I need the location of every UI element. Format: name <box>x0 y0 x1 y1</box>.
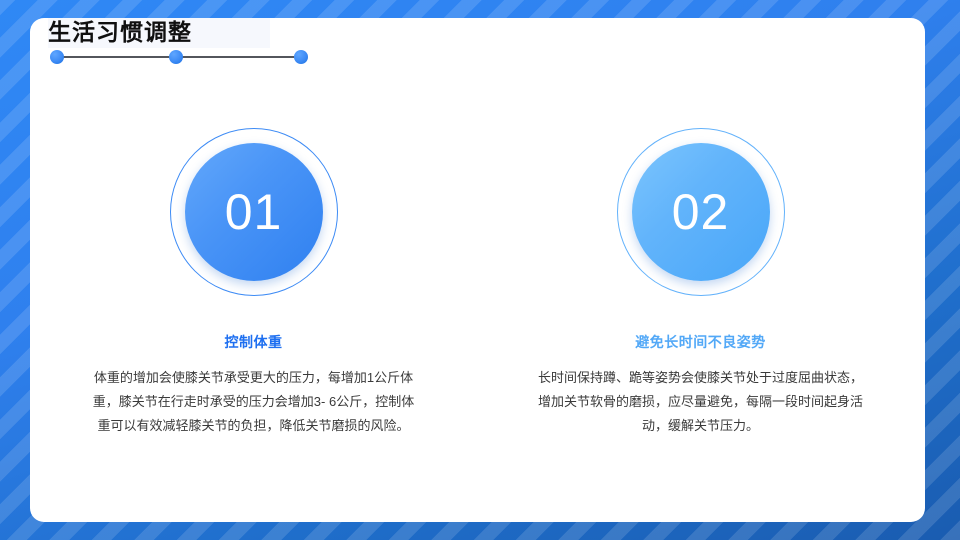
number-badge-02: 02 <box>632 143 770 281</box>
timeline-dot-1[interactable] <box>50 50 64 64</box>
content-item-02: 02 避免长时间不良姿势 长时间保持蹲、跪等姿势会使膝关节处于过度屈曲状态，增加… <box>477 128 924 438</box>
content-card: 生活习惯调整 01 控制体重 体重的增加会使膝关节承受更大的压力，每增加1公斤体… <box>30 18 925 522</box>
page-title: 生活习惯调整 <box>48 16 192 48</box>
number-badge-ring-02: 02 <box>617 128 785 296</box>
number-badge-01: 01 <box>185 143 323 281</box>
timeline-dot-2[interactable] <box>169 50 183 64</box>
timeline-connector <box>50 49 310 65</box>
slide-canvas: 生活习惯调整 01 控制体重 体重的增加会使膝关节承受更大的压力，每增加1公斤体… <box>0 0 960 540</box>
item-body-01: 体重的增加会使膝关节承受更大的压力，每增加1公斤体重，膝关节在行走时承受的压力会… <box>88 366 420 438</box>
content-item-01: 01 控制体重 体重的增加会使膝关节承受更大的压力，每增加1公斤体重，膝关节在行… <box>30 128 477 438</box>
item-heading-02: 避免长时间不良姿势 <box>635 332 766 352</box>
content-columns: 01 控制体重 体重的增加会使膝关节承受更大的压力，每增加1公斤体重，膝关节在行… <box>30 128 925 438</box>
timeline-dot-3[interactable] <box>294 50 308 64</box>
item-heading-01: 控制体重 <box>225 332 283 352</box>
number-badge-ring-01: 01 <box>170 128 338 296</box>
item-body-02: 长时间保持蹲、跪等姿势会使膝关节处于过度屈曲状态，增加关节软骨的磨损，应尽量避免… <box>535 366 867 438</box>
